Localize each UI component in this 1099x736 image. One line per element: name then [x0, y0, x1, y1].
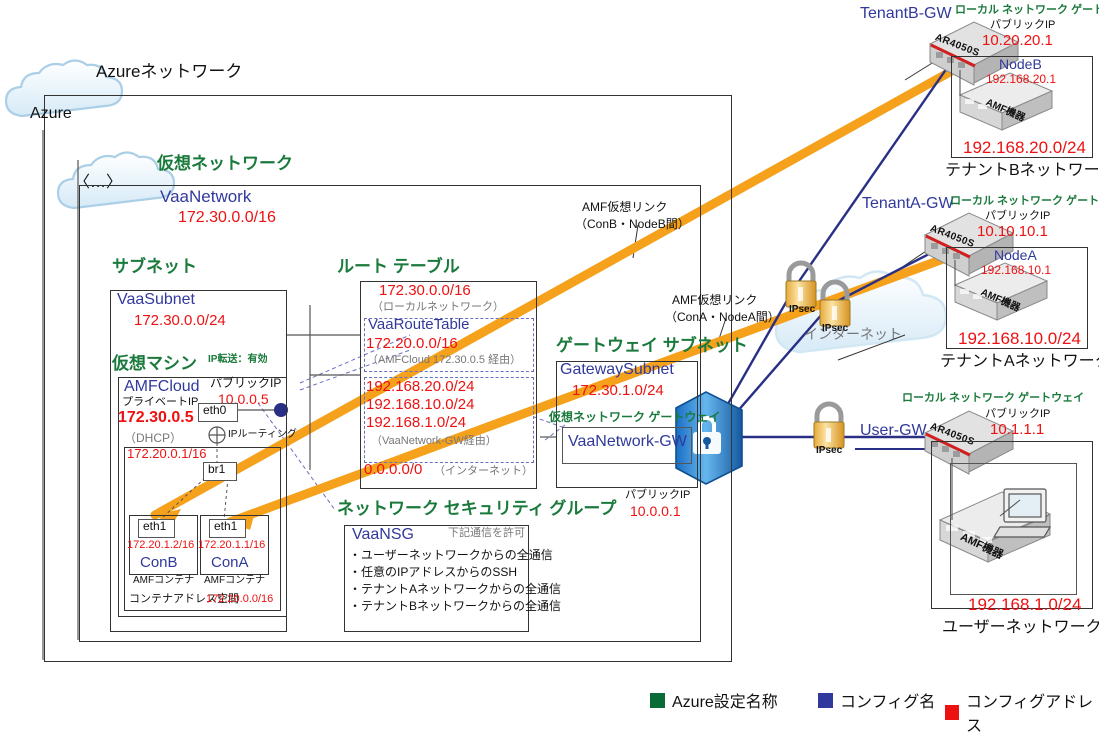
- user-lng-title: ローカル ネットワーク ゲートウェイ: [902, 393, 1084, 405]
- tenantb-caption: テナントBネットワーク: [945, 163, 1099, 180]
- vm-private-ip: 172.30.0.5: [118, 410, 194, 427]
- ipsec-label-3: IPsec: [816, 446, 842, 457]
- nsg-rule-0: ・ユーザーネットワークからの全通信: [349, 549, 553, 562]
- gateway-subnet-name: GatewaySubnet: [560, 362, 674, 379]
- route-group2-cidr-2: 192.168.1.0/24: [366, 415, 466, 431]
- route-group1-cidr: 172.20.0.0/16: [366, 336, 458, 352]
- tenantb-lng-title: ローカル ネットワーク ゲートウェイ: [955, 5, 1099, 17]
- br1-label: br1: [208, 463, 225, 476]
- route-group2-note: （VaaNetwork-GW経由）: [371, 436, 497, 448]
- ip-forward-label: IP転送：有効: [208, 355, 267, 366]
- virtual-machine-title: 仮想マシン: [112, 355, 197, 373]
- route-table-title: ルート テーブル: [337, 258, 460, 276]
- cona-ip: 172.20.1.1/16: [198, 540, 265, 552]
- amf-link-label-a-line1: AMF仮想リンク: [672, 294, 757, 307]
- subnet-title: サブネット: [112, 258, 197, 276]
- nsg-rule-1: ・任意のIPアドレスからのSSH: [349, 566, 517, 579]
- virtual-network-name: VaaNetwork: [160, 188, 251, 206]
- cona-name: ConA: [211, 555, 249, 571]
- nsg-note: 下記通信を許可: [448, 528, 525, 540]
- azure-network-title: Azureネットワーク: [96, 63, 242, 81]
- diagram-canvas: Azureネットワーク Azure 〈…〉 仮想ネットワーク VaaNetwor…: [0, 0, 1099, 713]
- vng-name: VaaNetwork-GW: [568, 434, 687, 451]
- amf-link-label-a-line2: （ConA・NodeA間）: [665, 311, 780, 324]
- container-space-cidr: 172.20.0.0/16: [206, 594, 273, 606]
- cona-caption: AMFコンテナ: [204, 576, 265, 587]
- legend-swatch-azure: [650, 693, 665, 708]
- tenantb-node-name: NodeB: [999, 57, 1042, 72]
- vng-public-ip: 10.0.0.1: [630, 504, 681, 519]
- vng-title: 仮想ネットワーク ゲートウェイ: [549, 411, 720, 424]
- nsg-name: VaaNSG: [352, 527, 414, 544]
- subnet-name: VaaSubnet: [117, 292, 195, 309]
- legend-swatch-config-address: [945, 705, 959, 720]
- virtual-network-cidr: 172.30.0.0/16: [178, 210, 276, 227]
- legend-label-config-address: コンフィグアドレス: [966, 688, 1099, 736]
- legend-label-config-name: コンフィグ名: [840, 688, 935, 712]
- tenanta-caption: テナントAネットワーク: [940, 354, 1099, 371]
- user-inner-box: [950, 463, 1077, 595]
- user-cidr: 192.168.1.0/24: [968, 596, 1081, 614]
- ipsec-label-1: IPsec: [789, 305, 815, 316]
- bridge-ip: 172.20.0.1/16: [127, 447, 207, 461]
- vm-public-ip-label: パブリックIP: [210, 377, 281, 390]
- tenantb-public-ip: 10.20.20.1: [982, 33, 1053, 49]
- gateway-subnet-title: ゲートウェイ サブネット: [556, 337, 748, 355]
- user-public-ip: 10.1.1.1: [990, 422, 1044, 438]
- ipsec-label-2: IPsec: [822, 324, 848, 335]
- cona-eth1-label: eth1: [214, 520, 237, 533]
- conb-caption: AMFコンテナ: [133, 576, 194, 587]
- internet-label: インターネット: [804, 327, 902, 342]
- route-local-cidr: 172.30.0.0/16: [379, 283, 471, 299]
- virtual-network-title: 仮想ネットワーク: [157, 155, 293, 173]
- legend-item-azure: Azure設定名称: [650, 688, 778, 712]
- gateway-subnet-box: [556, 361, 698, 488]
- tenantb-public-ip-label: パブリックIP: [990, 20, 1055, 32]
- tenanta-cidr: 192.168.10.0/24: [958, 330, 1081, 348]
- azure-cloud-label: Azure: [30, 106, 72, 123]
- legend-label-azure: Azure設定名称: [672, 688, 778, 712]
- tenanta-public-ip: 10.10.10.1: [977, 224, 1048, 240]
- nsg-title: ネットワーク セキュリティ グループ: [337, 500, 616, 518]
- ipsec-padlock-icon-3: [814, 404, 844, 448]
- tenanta-lng-title: ローカル ネットワーク ゲートウェイ: [950, 196, 1099, 208]
- ipsec-tunnel-lines: [712, 42, 965, 437]
- vm-name: AMFCloud: [124, 379, 200, 396]
- legend-item-config-name: コンフィグ名: [818, 688, 935, 712]
- route-group1-note: （AMFCloud 172.30.0.5 経由）: [367, 355, 521, 367]
- legend-item-config-address: コンフィグアドレス: [945, 688, 1099, 736]
- vm-private-ip-label: プライベートIP: [122, 397, 198, 409]
- tenanta-node-name: NodeA: [994, 248, 1037, 263]
- tenantb-gw-name: TenantB-GW: [860, 6, 952, 23]
- ipsec-padlock-icon-2: [820, 282, 850, 326]
- gateway-subnet-cidr: 172.30.1.0/24: [572, 383, 664, 399]
- subnet-cidr: 172.30.0.0/24: [134, 313, 226, 329]
- route-table-name: VaaRouteTable: [368, 317, 469, 333]
- route-group2-cidr-0: 192.168.20.0/24: [366, 379, 474, 395]
- user-gw-name: User-GW: [860, 423, 927, 440]
- amf-link-label-b-line2: （ConB・NodeB間）: [575, 218, 690, 231]
- eth0-label: eth0: [203, 404, 226, 417]
- route-group2-cidr-1: 192.168.10.0/24: [366, 397, 474, 413]
- tenanta-public-ip-label: パブリックIP: [985, 211, 1050, 223]
- ip-routing-label: IPルーティング: [228, 430, 297, 441]
- tenanta-gw-name: TenantA-GW: [862, 196, 954, 213]
- user-public-ip-label: パブリックIP: [985, 409, 1050, 421]
- vng-public-ip-label: パブリックIP: [625, 490, 690, 502]
- conb-name: ConB: [140, 555, 178, 571]
- vm-dhcp-label: （DHCP）: [124, 432, 182, 445]
- conb-ip: 172.20.1.2/16: [127, 540, 194, 552]
- user-caption: ユーザーネットワーク: [942, 620, 1099, 637]
- nsg-rule-3: ・テナントBネットワークからの全通信: [349, 600, 561, 613]
- ipsec-padlock-icon-1: [786, 263, 816, 307]
- route-local-note: （ローカルネットワーク）: [372, 302, 504, 314]
- amf-link-label-b-line1: AMF仮想リンク: [582, 201, 667, 214]
- route-default-note: （インターネット）: [434, 466, 533, 478]
- conb-eth1-label: eth1: [143, 520, 166, 533]
- tenantb-cidr: 192.168.20.0/24: [963, 139, 1086, 157]
- legend-swatch-config-name: [818, 693, 833, 708]
- route-default-cidr: 0.0.0.0/0: [364, 462, 422, 478]
- tenanta-node-ip: 192.168.10.1: [981, 264, 1051, 277]
- nsg-rule-2: ・テナントAネットワークからの全通信: [349, 583, 561, 596]
- tenantb-node-ip: 192.168.20.1: [986, 73, 1056, 86]
